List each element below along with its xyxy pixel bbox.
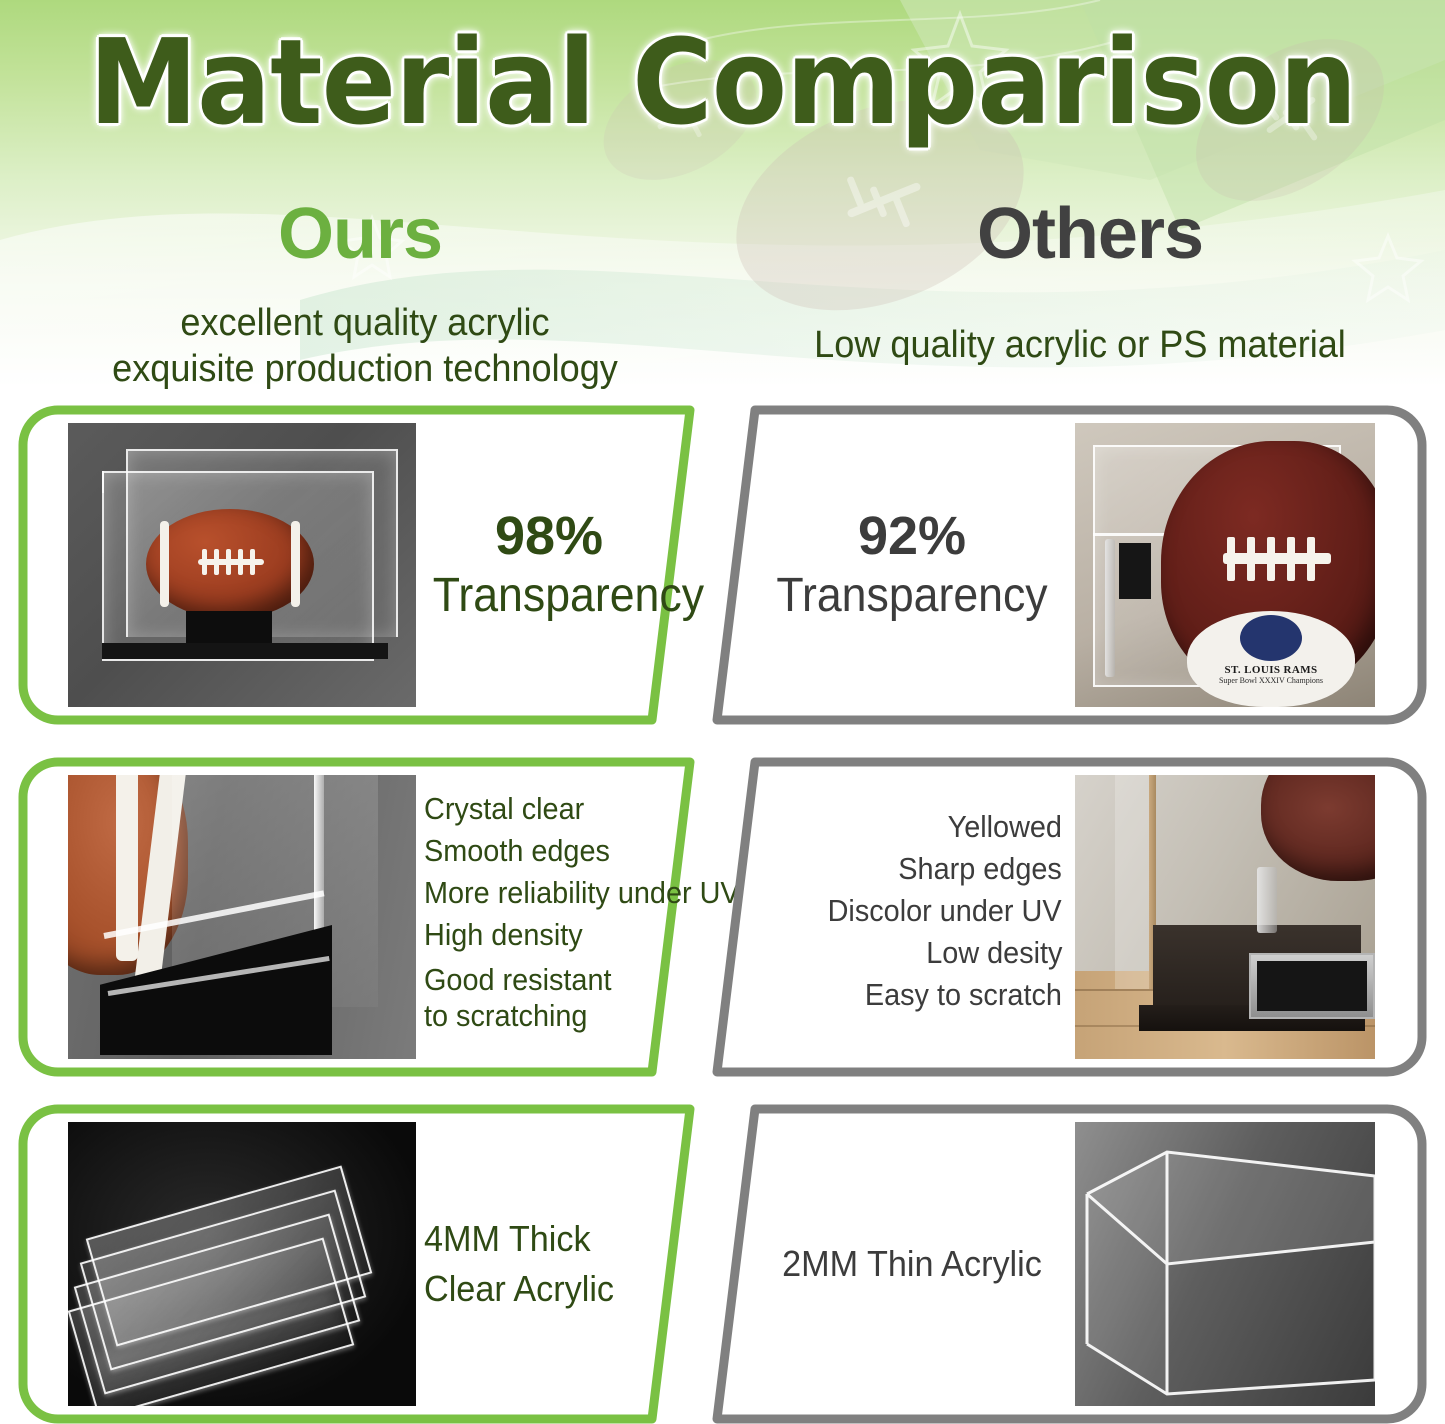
ours-subtitle-line-1: excellent quality acrylic <box>37 300 693 346</box>
others-thickness-photo <box>1075 1122 1375 1406</box>
comparison-row-transparency: 98% Transparency 92% Transparency <box>0 405 1445 725</box>
ours-feature-item: Smooth edges <box>424 830 657 872</box>
ours-transparency-text: 98% Transparency <box>424 423 674 707</box>
ours-thickness-line-1: 4MM Thick <box>424 1214 662 1264</box>
ours-card-transparency: 98% Transparency <box>18 405 708 725</box>
others-card-properties: Yellowed Sharp edges Discolor under UV L… <box>700 757 1427 1077</box>
others-feature-item: Yellowed <box>948 806 1062 848</box>
ours-thickness-line-2: Clear Acrylic <box>424 1264 662 1314</box>
comparison-row-properties: Crystal clear Smooth edges More reliabil… <box>0 757 1445 1077</box>
others-properties-photo <box>1075 775 1375 1059</box>
ours-transparency-label: Transparency <box>433 567 666 625</box>
rams-logo-dot <box>1240 615 1302 661</box>
others-card-thickness: 2MM Thin Acrylic <box>700 1104 1427 1424</box>
others-properties-feature-list: Yellowed Sharp edges Discolor under UV L… <box>762 763 1062 1059</box>
ours-feature-item: High density <box>424 914 657 956</box>
others-feature-item: Sharp edges <box>898 848 1062 890</box>
ours-transparency-photo <box>68 423 416 707</box>
others-subtitle-line-1: Low quality acrylic or PS material <box>748 322 1413 368</box>
others-thickness-line-1: 2MM Thin Acrylic <box>770 1239 1055 1289</box>
material-comparison-infographic: Material Comparison Ours Others excellen… <box>0 0 1445 1424</box>
ours-thickness-photo <box>68 1122 416 1406</box>
others-transparency-text: 92% Transparency <box>762 423 1062 707</box>
ours-properties-feature-list: Crystal clear Smooth edges More reliabil… <box>424 763 674 1059</box>
others-transparency-label: Transparency <box>773 567 1052 625</box>
column-subtitle-ours: excellent quality acrylic exquisite prod… <box>37 300 693 392</box>
others-card-transparency: 92% Transparency S <box>700 405 1427 725</box>
others-transparency-photo: ST. LOUIS RAMS Super Bowl XXXIV Champion… <box>1075 423 1375 707</box>
ours-properties-photo <box>68 775 416 1059</box>
ours-subtitle-line-2: exquisite production technology <box>37 346 693 392</box>
column-subtitle-others: Low quality acrylic or PS material <box>748 322 1413 368</box>
others-feature-item: Easy to scratch <box>865 974 1062 1016</box>
rams-team-name: ST. LOUIS RAMS <box>1224 664 1317 676</box>
others-feature-item: Discolor under UV <box>828 890 1062 932</box>
ours-card-properties: Crystal clear Smooth edges More reliabil… <box>18 757 708 1077</box>
ours-feature-line-2: to scratching <box>424 998 657 1034</box>
others-transparency-value: 92% <box>762 505 1062 567</box>
comparison-row-thickness: 4MM Thick Clear Acrylic 2MM Thin Acrylic <box>0 1104 1445 1424</box>
ours-feature-item: More reliability under UV <box>424 872 657 914</box>
column-heading-ours: Ours <box>100 196 620 272</box>
column-heading-others: Others <box>830 196 1350 272</box>
ours-transparency-value: 98% <box>424 505 674 567</box>
others-thickness-text: 2MM Thin Acrylic <box>762 1122 1062 1406</box>
ours-feature-line-1: Good resistant <box>424 962 657 998</box>
ours-thickness-text: 4MM Thick Clear Acrylic <box>424 1122 674 1406</box>
page-title: Material Comparison <box>51 22 1395 142</box>
ours-card-thickness: 4MM Thick Clear Acrylic <box>18 1104 708 1424</box>
thin-acrylic-box-outline <box>1075 1122 1375 1406</box>
rams-caption: Super Bowl XXXIV Champions <box>1219 676 1323 685</box>
ours-feature-item-wrapped: Good resistant to scratching <box>424 962 674 1034</box>
others-feature-item: Low desity <box>926 932 1062 974</box>
ours-feature-item: Crystal clear <box>424 788 657 830</box>
